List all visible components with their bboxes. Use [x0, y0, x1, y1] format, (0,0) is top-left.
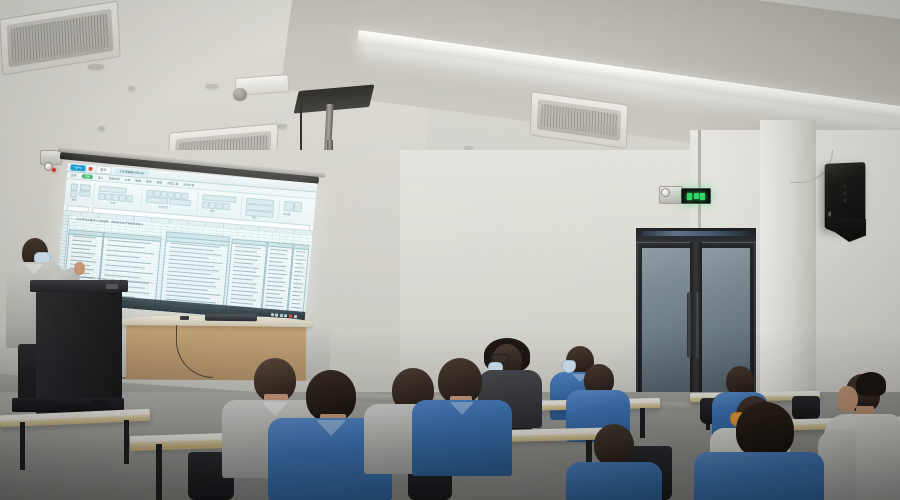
exit-glyph-3 [700, 193, 705, 200]
tray-battery-icon [280, 314, 283, 317]
attendee-head [594, 424, 634, 466]
tray-alert-icon [289, 315, 292, 318]
presenter-hand [74, 262, 85, 275]
menu-item-layout[interactable]: 页面布局 [108, 176, 120, 181]
ceiling-sensor [88, 64, 104, 69]
ceiling-sprinkler [98, 126, 105, 130]
ribbon-group-font[interactable]: 字体 [94, 183, 143, 209]
exit-glyph-2 [694, 193, 699, 199]
ribbon-group-number[interactable]: 数字 [198, 192, 243, 217]
ribbon-group-alignment[interactable]: 对齐方式 [142, 187, 199, 213]
ribbon-label-number: 数字 [210, 209, 215, 213]
ribbon-label-cells: 单元格 [283, 212, 291, 217]
ribbon-label-clipboard: 粘贴 [72, 197, 77, 201]
menu-item-formula[interactable]: 公式 [125, 178, 131, 182]
menu-item-review[interactable]: 审阅 [146, 179, 152, 183]
ceiling-sensor [277, 124, 287, 128]
tray-volume-icon [275, 313, 278, 316]
desk-leg [156, 444, 162, 500]
attendee-body [694, 452, 824, 500]
ribbon-label-alignment: 对齐方式 [158, 205, 168, 210]
attendee-body [566, 462, 662, 500]
wps-app-chip[interactable]: WPS [70, 164, 85, 171]
file-tab[interactable]: 首页 [95, 165, 112, 174]
laptop-icon[interactable] [205, 314, 257, 321]
menu-item-data[interactable]: 数据 [135, 179, 141, 183]
desk-leg [640, 408, 645, 438]
door-handle-left[interactable] [687, 292, 692, 358]
exit-glyph-1 [687, 193, 692, 200]
menu-item-dev[interactable]: 开发工具 [167, 181, 179, 186]
attendee-hair [856, 372, 886, 396]
tray-network-icon [270, 313, 273, 316]
attendee-body [412, 400, 512, 476]
emergency-lamp-icon [661, 188, 670, 197]
security-camera-icon [233, 88, 247, 101]
menu-item-member[interactable]: 会员专享 [183, 183, 195, 188]
ribbon-group-cells[interactable]: 单元格 [280, 199, 304, 223]
desk-leg [124, 420, 129, 464]
menu-item-file[interactable]: 文件 [71, 173, 77, 177]
ceiling-sprinkler [128, 86, 135, 90]
ribbon-group-clipboard[interactable]: 粘贴 [66, 181, 95, 205]
ceiling-sensor [206, 84, 218, 88]
door-handle-right[interactable] [695, 292, 700, 358]
chair[interactable] [792, 396, 820, 420]
emergency-indicator-icon [52, 168, 56, 172]
door-transom-light [642, 231, 750, 236]
tray-ime-icon [284, 314, 287, 317]
exit-sign-icon [681, 188, 711, 204]
menu-item-view[interactable]: 视图 [156, 180, 162, 184]
menu-item-home[interactable]: 开始 [81, 174, 93, 179]
training-room-scene: WPS 首页 工作清单统计表.xlsx 文件 开始 插入 页面布局 公式 数据 … [0, 0, 900, 500]
attendee-head [736, 402, 794, 458]
tray-cloud-icon [293, 315, 296, 318]
ribbon-group-styles[interactable]: 样式 [242, 196, 281, 221]
ribbon-label-font: 字体 [110, 201, 115, 205]
wps-logo-icon [88, 167, 92, 171]
podium[interactable] [36, 286, 122, 414]
floor-power-box [92, 400, 110, 408]
attendee-hand [838, 386, 858, 412]
menu-item-insert[interactable]: 插入 [98, 176, 104, 180]
desk-leg [20, 422, 25, 470]
table-cable-grommet [180, 316, 189, 320]
podium-reading-light-icon [106, 284, 118, 289]
